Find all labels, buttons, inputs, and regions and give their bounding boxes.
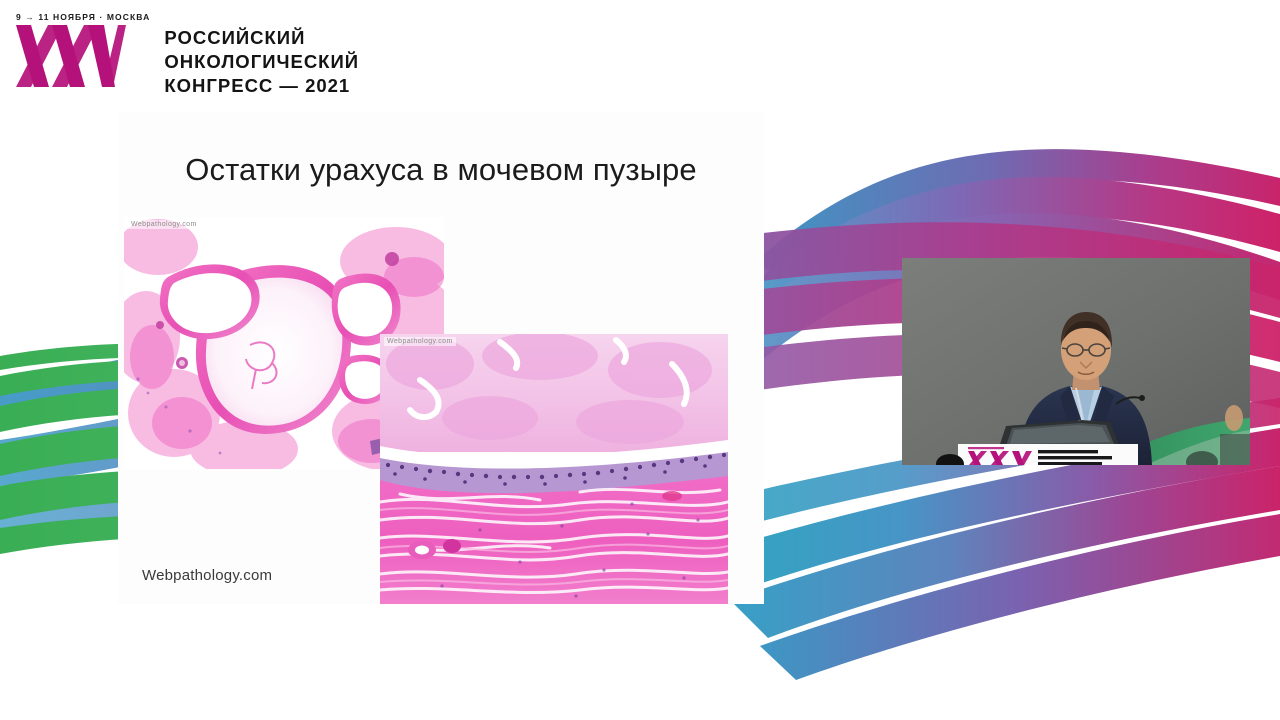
watermark-label: Webpathology.com xyxy=(384,337,456,346)
webinar-screen: Остатки урахуса в мочевом пузыре xyxy=(0,0,1280,720)
congress-title-line-1: РОССИЙСКИЙ xyxy=(164,26,359,50)
watermark-label: Webpathology.com xyxy=(128,220,200,229)
logo-dates: 9 → 11 НОЯБРЯ · МОСКВА xyxy=(16,12,150,22)
histology-image-high-power: Webpathology.com xyxy=(380,334,728,604)
speaker-video[interactable]: РОССИЙСКИЙ xyxy=(902,258,1250,465)
congress-logo: 9 → 11 НОЯБРЯ · МОСКВА РОССИЙСКИЙ ОНКОЛО… xyxy=(14,12,359,98)
xxv-roman-numeral-icon xyxy=(14,25,126,87)
presentation-slide[interactable]: Остатки урахуса в мочевом пузыре xyxy=(118,112,764,604)
congress-title-line-3: КОНГРЕСС — 2021 xyxy=(164,74,359,98)
congress-title: РОССИЙСКИЙ ОНКОЛОГИЧЕСКИЙ КОНГРЕСС — 202… xyxy=(164,26,359,98)
congress-title-line-2: ОНКОЛОГИЧЕСКИЙ xyxy=(164,50,359,74)
slide-title: Остатки урахуса в мочевом пузыре xyxy=(118,152,764,188)
slide-credit: Webpathology.com xyxy=(142,567,272,584)
